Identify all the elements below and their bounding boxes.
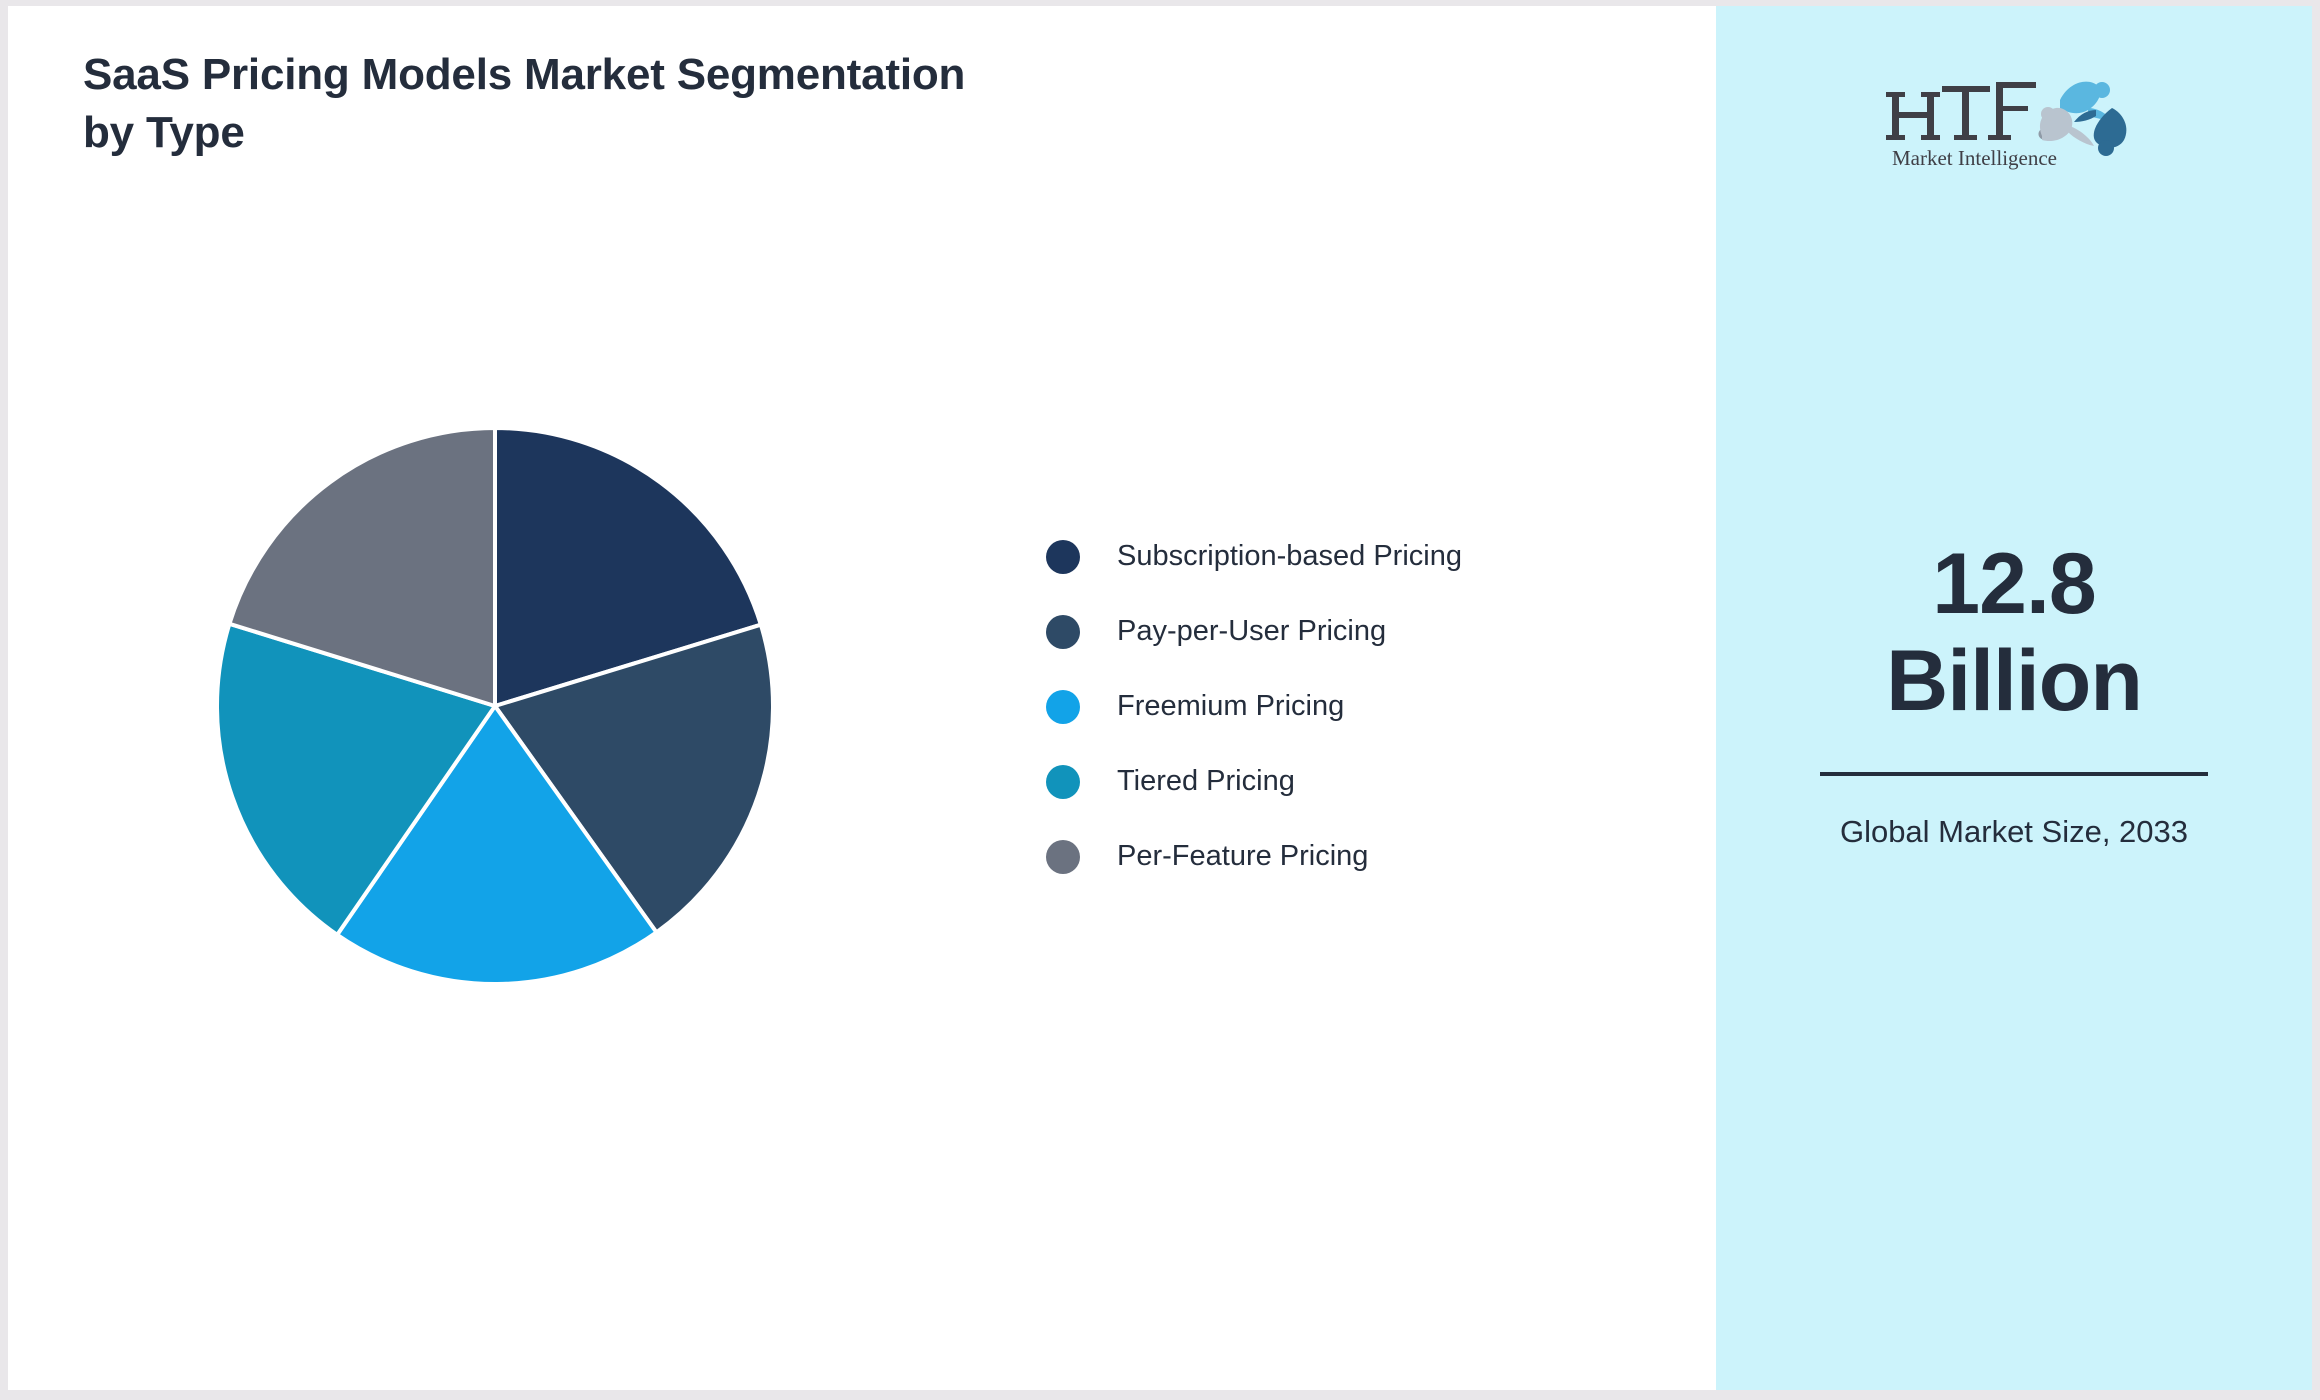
stat-divider xyxy=(1820,772,2208,776)
legend-swatch-icon xyxy=(1046,615,1080,649)
main-panel: SaaS Pricing Models Market Segmentation … xyxy=(8,6,1716,1390)
pie-chart-svg xyxy=(205,416,785,996)
page-title: SaaS Pricing Models Market Segmentation … xyxy=(83,46,983,162)
legend-swatch-icon xyxy=(1046,840,1080,874)
sidebar-panel: Market Intelligence 12.8 Billion Global … xyxy=(1716,6,2312,1390)
legend-item-label: Freemium Pricing xyxy=(1117,692,1344,721)
legend-swatch-icon xyxy=(1046,690,1080,724)
stat-caption: Global Market Size, 2033 xyxy=(1804,810,2224,854)
infographic-root: SaaS Pricing Models Market Segmentation … xyxy=(8,6,2312,1390)
legend-item-label: Tiered Pricing xyxy=(1117,767,1295,796)
legend-item[interactable]: Subscription-based Pricing xyxy=(1046,519,1566,594)
htf-market-intelligence-logo: Market Intelligence xyxy=(1884,64,2144,174)
logo-artwork: Market Intelligence xyxy=(1884,64,2144,174)
logo-tagline: Market Intelligence xyxy=(1892,146,2057,170)
legend-item[interactable]: Freemium Pricing xyxy=(1046,669,1566,744)
legend-item-label: Per-Feature Pricing xyxy=(1117,842,1368,871)
legend-item[interactable]: Per-Feature Pricing xyxy=(1046,819,1566,894)
stat-block: 12.8 Billion Global Market Size, 2033 xyxy=(1804,536,2224,854)
pie-chart xyxy=(205,416,785,996)
stat-value: 12.8 Billion xyxy=(1804,536,2224,730)
legend-item-label: Pay-per-User Pricing xyxy=(1117,617,1386,646)
legend-swatch-icon xyxy=(1046,765,1080,799)
legend-item[interactable]: Pay-per-User Pricing xyxy=(1046,594,1566,669)
logo-wordmark-icon xyxy=(1886,82,2036,140)
chart-legend: Subscription-based PricingPay-per-User P… xyxy=(1046,519,1566,894)
legend-item-label: Subscription-based Pricing xyxy=(1117,542,1462,571)
legend-item[interactable]: Tiered Pricing xyxy=(1046,744,1566,819)
stat-value-unit: Billion xyxy=(1804,633,2224,730)
legend-swatch-icon xyxy=(1046,540,1080,574)
stat-value-number: 12.8 xyxy=(1804,536,2224,633)
logo-figures-icon xyxy=(2040,82,2126,156)
